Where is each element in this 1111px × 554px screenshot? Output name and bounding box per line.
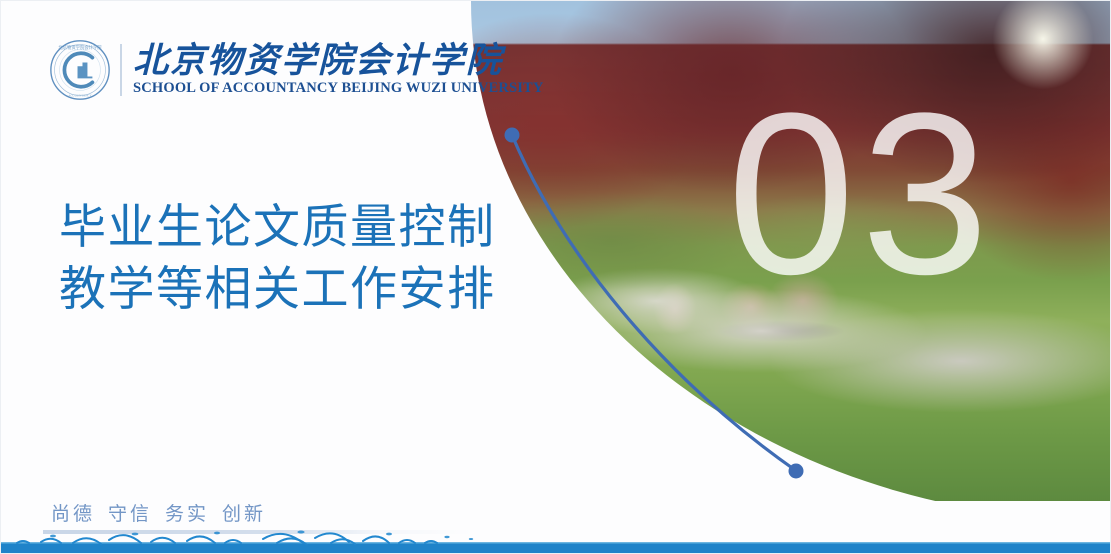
section-number: 03 [691,79,1031,309]
motto-word-2: 守信 [108,503,152,525]
logo-divider [120,44,122,96]
logo-chinese-name: 北京物资学院会计学院 [133,43,544,80]
presentation-slide: 03 北京物资学院会计学院 ACCOUNTANCY 北京物资学院会计学院 SCH… [0,0,1111,554]
motto-word-1: 尚德 [51,503,95,525]
motto-word-3: 务实 [165,503,209,525]
svg-text:ACCOUNTANCY: ACCOUNTANCY [68,94,92,98]
section-title-line-2: 教学等相关工作安排 [59,259,539,321]
university-logo: 北京物资学院会计学院 ACCOUNTANCY 北京物资学院会计学院 SCHOOL… [49,39,544,101]
logo-english-name: SCHOOL OF ACCOUNTANCY BEIJING WUZI UNIVE… [133,80,544,97]
chinese-wave-ornament-icon [1,527,1111,553]
section-title-line-1: 毕业生论文质量控制 [59,197,539,259]
section-title: 毕业生论文质量控制 教学等相关工作安排 [59,197,539,321]
connector-dot-bottom [789,464,804,479]
motto-word-4: 创新 [222,503,266,525]
university-seal-icon: 北京物资学院会计学院 ACCOUNTANCY [49,39,111,101]
school-motto: 尚德守信务实创新 [51,499,266,526]
logo-text-block: 北京物资学院会计学院 SCHOOL OF ACCOUNTANCY BEIJING… [133,43,544,98]
